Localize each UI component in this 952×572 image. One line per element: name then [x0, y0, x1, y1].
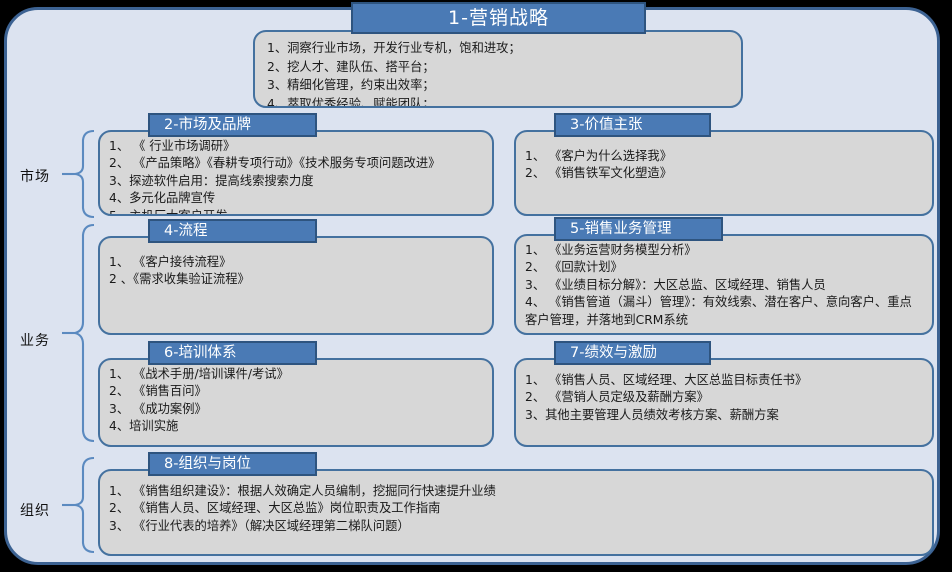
section-box-8: 1、 《销售组织建设》：根据人效确定人员编制，挖掘同行快速提升业绩 2、 《销售…: [98, 469, 934, 556]
brace-organization: [62, 455, 96, 555]
section-tab-4[interactable]: 4-流程: [148, 219, 317, 243]
section-box-4: 1、 《客户接待流程》 2 、《需求收集验证流程》: [98, 236, 494, 335]
list-item: 2 、《需求收集验证流程》: [109, 271, 483, 288]
list-item: 2、 《产品策略》《春耕专项行动》《技术服务专项问题改进》: [109, 155, 483, 172]
summary-line: 2、挖人才、建队伍、搭平台；: [267, 58, 731, 77]
list-item: 1、 《业务运营财务模型分析》: [525, 242, 923, 259]
summary-line: 4、萃取优秀经验、赋能团队；: [267, 95, 731, 109]
brace-market: [62, 128, 96, 220]
section-tab-7[interactable]: 7-绩效与激励: [554, 341, 711, 365]
list-item: 2、 《销售百问》: [109, 383, 483, 400]
section-tab-3[interactable]: 3-价值主张: [554, 113, 711, 137]
page-title: 1-营销战略: [351, 2, 646, 34]
category-label-business: 业务: [20, 330, 50, 350]
list-item: 1、 《销售组织建设》：根据人效确定人员编制，挖掘同行快速提升业绩: [109, 483, 923, 500]
section-tab-6[interactable]: 6-培训体系: [148, 341, 317, 365]
category-label-organization: 组织: [20, 500, 50, 520]
section-box-6: 1、 《战术手册/培训课件/考试》 2、 《销售百问》 3、 《成功案例》 4、…: [98, 358, 494, 447]
list-item: 4、多元化品牌宣传: [109, 190, 483, 207]
list-item: 4、 《销售管道（漏斗）管理》：有效线索、潜在客户、意向客户、重点客户管理，并落…: [525, 294, 923, 329]
list-item: 2、 《销售人员、区域经理、大区总监》岗位职责及工作指南: [109, 500, 923, 517]
section-tab-2[interactable]: 2-市场及品牌: [148, 113, 317, 137]
section-box-3-content: 1、 《客户为什么选择我》 2、 《销售铁军文化塑造》: [516, 132, 932, 187]
section-box-6-content: 1、 《战术手册/培训课件/考试》 2、 《销售百问》 3、 《成功案例》 4、…: [100, 360, 492, 440]
section-tab-5[interactable]: 5-销售业务管理: [554, 217, 723, 241]
section-box-4-content: 1、 《客户接待流程》 2 、《需求收集验证流程》: [100, 238, 492, 293]
list-item: 2、 《回款计划》: [525, 259, 923, 276]
section-box-7: 1、 《销售人员、区域经理、大区总监目标责任书》 2、 《营销人员定级及薪酬方案…: [514, 358, 934, 447]
list-item: 2、 《营销人员定级及薪酬方案》: [525, 389, 923, 406]
list-item: 3、 《成功案例》: [109, 401, 483, 418]
summary-box: 1、洞察行业市场，开发行业专机，饱和进攻； 2、挖人才、建队伍、搭平台； 3、精…: [253, 30, 743, 108]
section-box-2: 1、 《 行业市场调研》 2、 《产品策略》《春耕专项行动》《技术服务专项问题改…: [98, 130, 494, 216]
list-item: 1、 《客户接待流程》: [109, 254, 483, 271]
list-item: 2、 《销售铁军文化塑造》: [525, 165, 923, 182]
list-item: 1、 《战术手册/培训课件/考试》: [109, 366, 483, 383]
section-box-5: 1、 《业务运营财务模型分析》 2、 《回款计划》 3、 《业绩目标分解》：大区…: [514, 234, 934, 335]
list-item: 3、 《业绩目标分解》：大区总监、区域经理、销售人员: [525, 277, 923, 294]
list-item: 1、 《客户为什么选择我》: [525, 148, 923, 165]
category-label-market: 市场: [20, 166, 50, 186]
summary-line: 1、洞察行业市场，开发行业专机，饱和进攻；: [267, 39, 731, 58]
list-item: 5、主机厂大客户开发: [109, 208, 483, 216]
section-box-5-content: 1、 《业务运营财务模型分析》 2、 《回款计划》 3、 《业绩目标分解》：大区…: [516, 236, 932, 333]
list-item: 1、 《 行业市场调研》: [109, 138, 483, 155]
list-item: 3、 《行业代表的培养》（解决区域经理第二梯队问题）: [109, 518, 923, 535]
section-box-8-content: 1、 《销售组织建设》：根据人效确定人员编制，挖掘同行快速提升业绩 2、 《销售…: [100, 471, 932, 539]
list-item: 1、 《销售人员、区域经理、大区总监目标责任书》: [525, 372, 923, 389]
list-item: 4、培训实施: [109, 418, 483, 435]
section-box-7-content: 1、 《销售人员、区域经理、大区总监目标责任书》 2、 《营销人员定级及薪酬方案…: [516, 360, 932, 428]
summary-line: 3、精细化管理，约束出效率；: [267, 76, 731, 95]
section-box-2-content: 1、 《 行业市场调研》 2、 《产品策略》《春耕专项行动》《技术服务专项问题改…: [100, 132, 492, 216]
list-item: 3、探迹软件启用：提高线索搜索力度: [109, 173, 483, 190]
section-tab-8[interactable]: 8-组织与岗位: [148, 452, 317, 476]
section-box-3: 1、 《客户为什么选择我》 2、 《销售铁军文化塑造》: [514, 130, 934, 216]
brace-business: [62, 222, 96, 444]
summary-box-content: 1、洞察行业市场，开发行业专机，饱和进攻； 2、挖人才、建队伍、搭平台； 3、精…: [255, 32, 741, 108]
strategy-diagram-page: 1-营销战略 1、洞察行业市场，开发行业专机，饱和进攻； 2、挖人才、建队伍、搭…: [0, 0, 952, 572]
list-item: 3、其他主要管理人员绩效考核方案、薪酬方案: [525, 407, 923, 424]
